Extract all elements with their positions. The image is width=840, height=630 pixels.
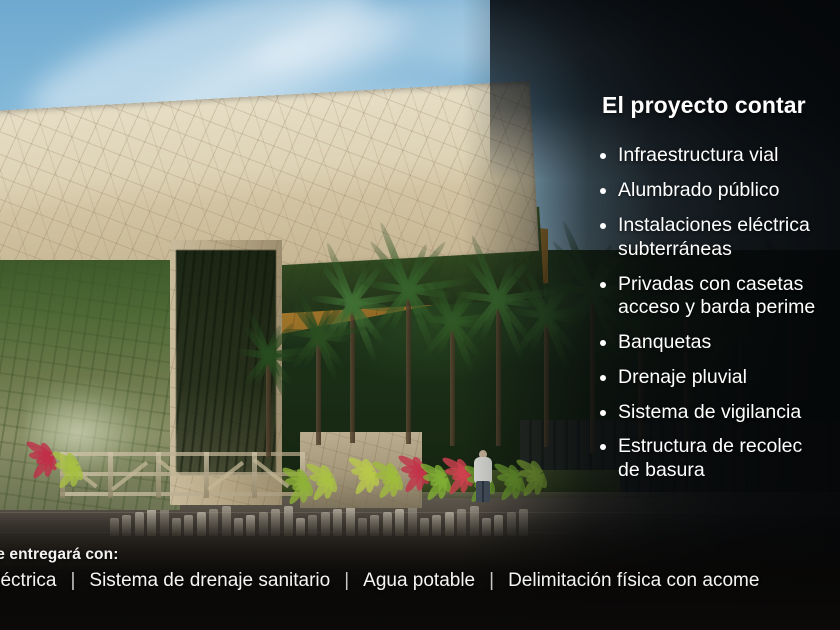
footer-service-list: gía eléctrica|Sistema de drenaje sanitar… <box>0 570 759 592</box>
footer-separator: | <box>70 570 75 592</box>
wooden-railing <box>60 452 310 498</box>
feature-bullet: Sistema de vigilancia <box>596 401 840 425</box>
feature-bullet: Infraestructura vial <box>596 144 840 168</box>
footer-service-item: Sistema de drenaje sanitario <box>89 570 330 592</box>
slide-canvas: El proyecto contar Infraestructura vialA… <box>0 0 840 630</box>
feature-panel: El proyecto contar Infraestructura vialA… <box>596 92 840 494</box>
feature-bullet-line1: Drenaje pluvial <box>618 366 747 388</box>
feature-bullet-line1: Banquetas <box>618 331 711 353</box>
pedestrian-figure <box>472 450 494 502</box>
footer-service-item: gía eléctrica <box>0 570 56 592</box>
feature-bullet-line2: de basura <box>618 459 840 483</box>
feature-bullet-line1: Sistema de vigilancia <box>618 401 801 423</box>
panel-title: El proyecto contar <box>602 92 840 118</box>
footer-service-item: Delimitación física con acome <box>508 570 759 592</box>
feature-bullet: Drenaje pluvial <box>596 366 840 390</box>
feature-bullet: Alumbrado público <box>596 179 840 203</box>
feature-bullet-line2: subterráneas <box>618 238 840 262</box>
feature-bullet: Instalaciones eléctricasubterráneas <box>596 214 840 262</box>
feature-bullet-line1: Estructura de recolec <box>618 435 802 457</box>
footer-service-item: Agua potable <box>363 570 475 592</box>
feature-bullet-line1: Privadas con casetas <box>618 273 803 295</box>
footer-lead-text: no se entregará con: <box>0 546 118 564</box>
feature-bullet-line2: acceso y barda perime <box>618 296 840 320</box>
feature-bullet: Estructura de recolecde basura <box>596 435 840 483</box>
feature-bullet-line1: Infraestructura vial <box>618 144 778 166</box>
feature-bullet-line1: Instalaciones eléctrica <box>618 214 810 236</box>
feature-bullet-line1: Alumbrado público <box>618 179 780 201</box>
feature-bullet-list: Infraestructura vialAlumbrado públicoIns… <box>596 144 840 483</box>
feature-bullet: Privadas con casetasacceso y barda perim… <box>596 273 840 321</box>
feature-bullet: Banquetas <box>596 331 840 355</box>
footer-separator: | <box>489 570 494 592</box>
footer-separator: | <box>344 570 349 592</box>
